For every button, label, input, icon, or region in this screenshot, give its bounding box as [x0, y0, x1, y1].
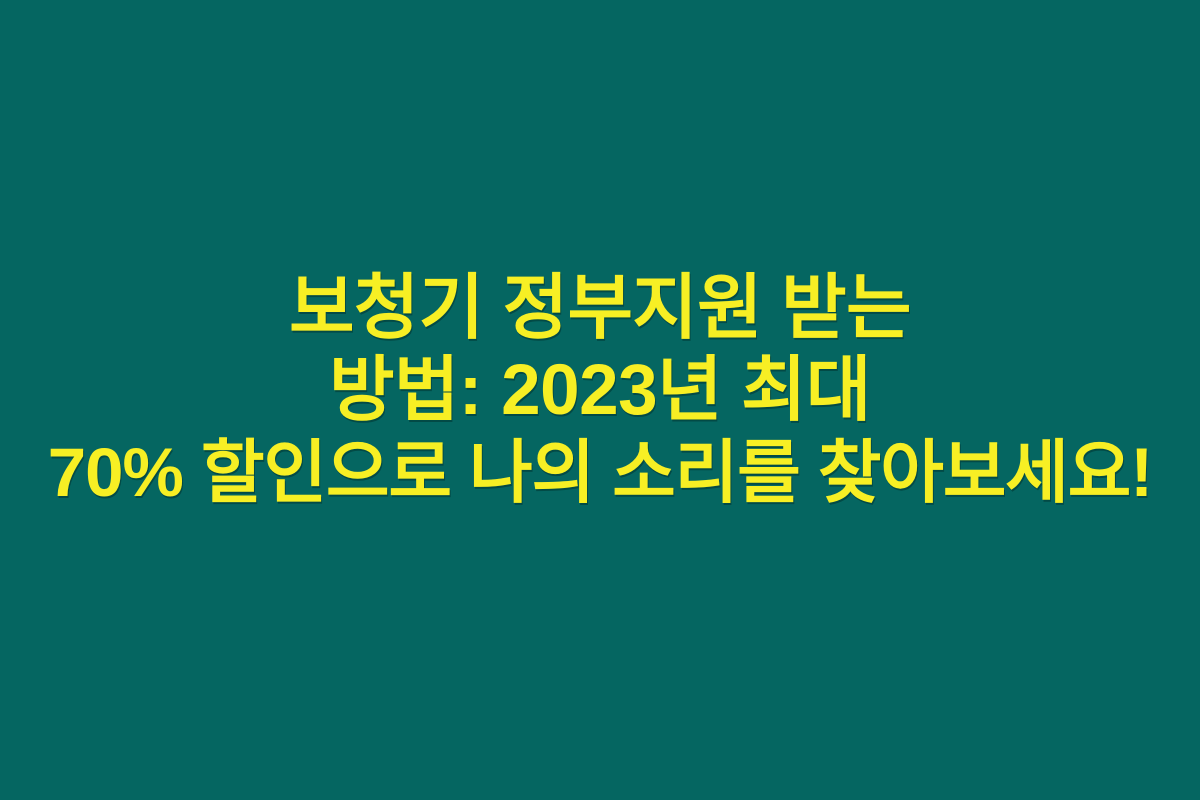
headline-block: 보청기 정부지원 받는 방법: 2023년 최대 70% 할인으로 나의 소리를…: [0, 268, 1200, 514]
headline-line-3: 70% 할인으로 나의 소리를 찾아보세요!: [14, 432, 1186, 514]
poster-canvas: 보청기 정부지원 받는 방법: 2023년 최대 70% 할인으로 나의 소리를…: [0, 0, 1200, 800]
headline-line-1: 보청기 정부지원 받는: [14, 268, 1186, 350]
headline-line-2: 방법: 2023년 최대: [14, 350, 1186, 432]
